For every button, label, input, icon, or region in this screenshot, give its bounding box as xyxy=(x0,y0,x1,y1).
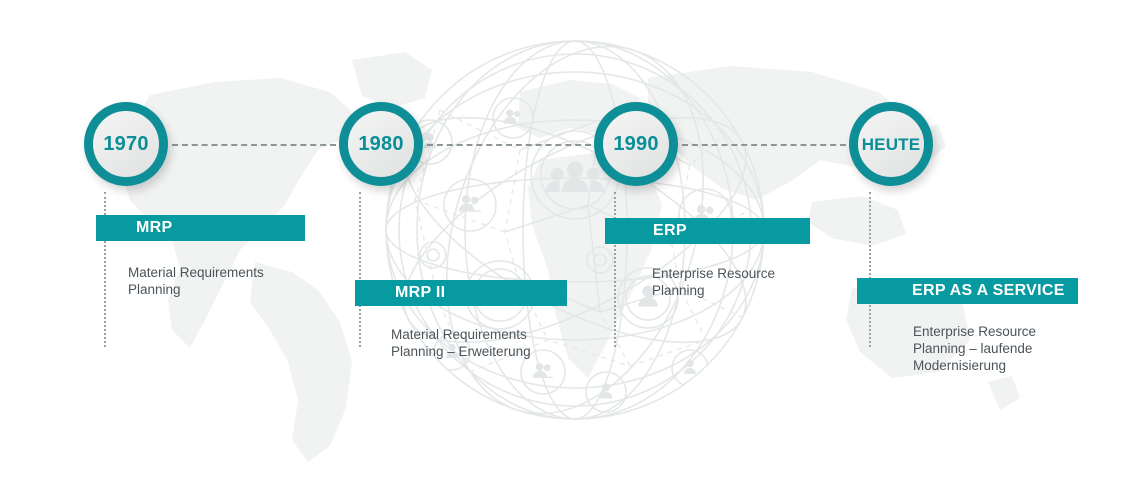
title-bar-erp[interactable]: ERP xyxy=(605,218,810,244)
title-bar-erp-as-a-service[interactable]: ERP AS A SERVICE xyxy=(857,278,1078,304)
drop-line-1990 xyxy=(614,192,618,347)
year-label: HEUTE xyxy=(862,136,921,153)
title-bar-label: MRP II xyxy=(395,284,445,302)
connector-1990-heute xyxy=(682,144,846,146)
description-erp: Enterprise Resource Planning xyxy=(652,265,852,299)
year-circle-1990[interactable]: 1990 xyxy=(594,102,678,186)
drop-line-heute xyxy=(869,192,873,347)
connector-1970-1980 xyxy=(172,144,336,146)
title-bar-mrp-ii[interactable]: MRP II xyxy=(355,280,567,306)
erp-timeline-infographic: 1970 MRP Material Requirements Planning … xyxy=(0,0,1140,500)
title-bar-mrp[interactable]: MRP xyxy=(96,215,305,241)
world-map-icon xyxy=(0,0,1140,500)
year-label: 1970 xyxy=(103,134,148,154)
connector-1980-1990 xyxy=(427,144,591,146)
title-bar-label: MRP xyxy=(136,219,172,237)
description-mrp: Material Requirements Planning xyxy=(128,264,328,298)
globe-network-icon xyxy=(0,0,1140,500)
year-label: 1980 xyxy=(358,134,403,154)
year-circle-1980[interactable]: 1980 xyxy=(339,102,423,186)
description-mrp-ii: Material Requirements Planning – Erweite… xyxy=(391,326,606,360)
description-erp-as-a-service: Enterprise Resource Planning – laufende … xyxy=(913,323,1113,374)
title-bar-label: ERP AS A SERVICE xyxy=(912,282,1065,300)
year-circle-heute[interactable]: HEUTE xyxy=(849,102,933,186)
year-label: 1990 xyxy=(613,134,658,154)
year-circle-1970[interactable]: 1970 xyxy=(84,102,168,186)
drop-line-1980 xyxy=(359,192,363,347)
title-bar-label: ERP xyxy=(653,222,687,240)
